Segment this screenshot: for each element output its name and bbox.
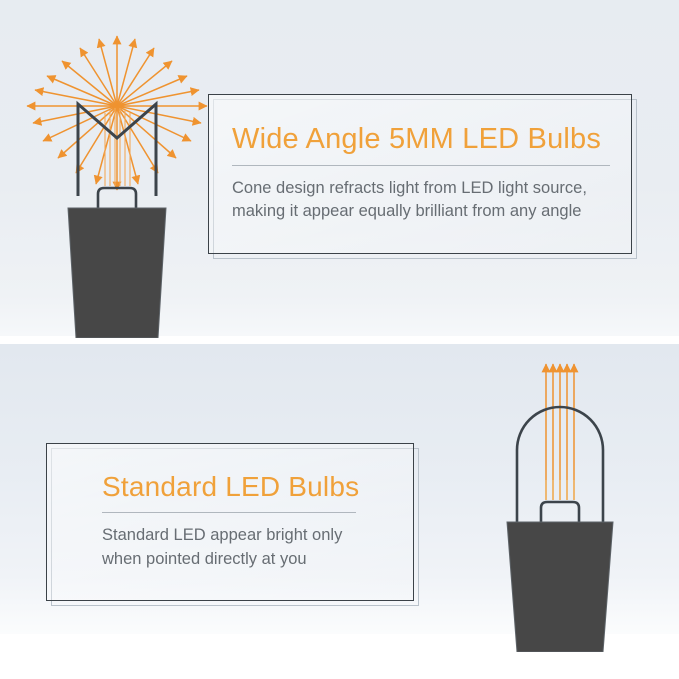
emitter-cup [98,188,136,208]
bulb-base [507,522,613,652]
panel-title-wide-angle: Wide Angle 5MM LED Bulbs [208,125,632,154]
standard-led-illustration [455,352,665,652]
panel-subtitle-wide-angle: Cone design refracts light from LED ligh… [208,177,632,224]
emitter-cup [541,502,579,522]
subtitle-line-2: when pointed directly at you [102,548,414,571]
light-ray-group [27,36,207,190]
title-divider-rule [232,165,610,166]
wide-angle-led-illustration [12,18,222,338]
panel-title-standard: Standard LED Bulbs [46,473,414,501]
panel-subtitle-standard: Standard LED appear bright only when poi… [46,524,414,571]
internal-beam-rays [546,480,574,500]
bulb-base [68,208,166,338]
subtitle-line-1: Cone design refracts light from LED ligh… [232,177,632,200]
light-ray-group [546,364,574,480]
standard-info-panel: Standard LED Bulbs Standard LED appear b… [46,443,414,601]
subtitle-line-1: Standard LED appear bright only [102,524,414,547]
comparison-infographic: Wide Angle 5MM LED Bulbs Cone design ref… [0,0,679,679]
wide-angle-info-panel: Wide Angle 5MM LED Bulbs Cone design ref… [208,94,632,254]
title-divider-rule [102,512,356,513]
subtitle-line-2: making it appear equally brilliant from … [232,200,632,223]
